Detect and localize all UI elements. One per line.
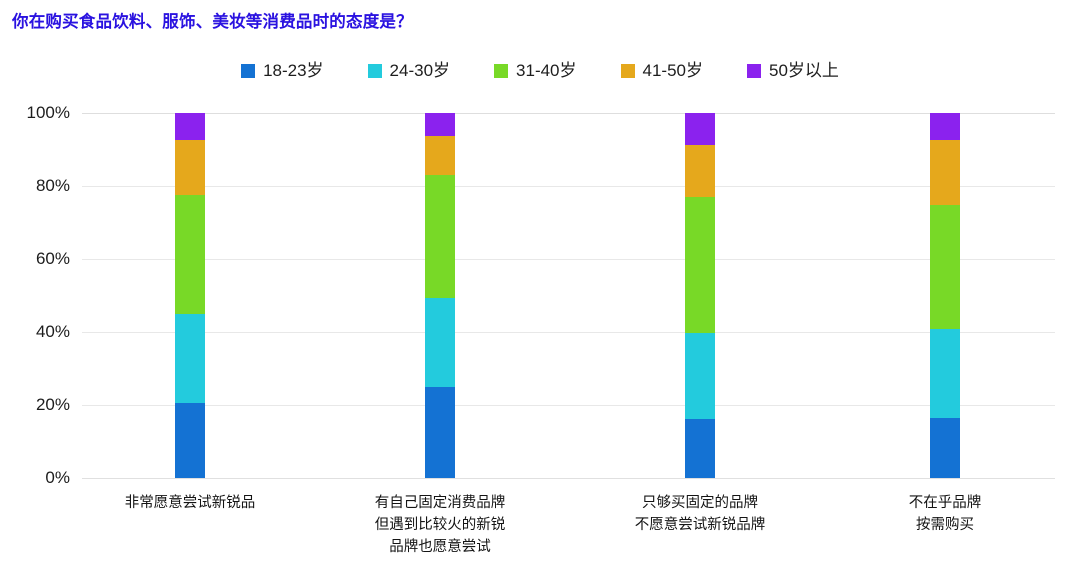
bar-segment[interactable] xyxy=(930,205,960,329)
bar-column[interactable] xyxy=(685,113,715,478)
chart-plot: 0%20%40%60%80%100% 非常愿意尝试新锐品有自己固定消费品牌 但遇… xyxy=(0,0,1080,578)
plot-area xyxy=(82,113,1055,478)
gridline xyxy=(82,186,1055,187)
x-axis-category-label: 只够买固定的品牌 不愿意尝试新锐品牌 xyxy=(635,492,766,536)
bar-segment[interactable] xyxy=(685,145,715,197)
x-axis-category-label: 非常愿意尝试新锐品 xyxy=(125,492,256,514)
bar-segment[interactable] xyxy=(175,314,205,403)
bar-segment[interactable] xyxy=(930,329,960,418)
bar-segment[interactable] xyxy=(175,140,205,195)
bar-segment[interactable] xyxy=(175,195,205,314)
y-axis-tick-label: 0% xyxy=(0,468,70,488)
bar-segment[interactable] xyxy=(425,298,455,387)
bar-column[interactable] xyxy=(175,113,205,478)
gridline xyxy=(82,259,1055,260)
bar-segment[interactable] xyxy=(685,333,715,419)
bar-segment[interactable] xyxy=(685,197,715,333)
y-axis-tick-label: 20% xyxy=(0,395,70,415)
y-axis-tick-label: 80% xyxy=(0,176,70,196)
gridline xyxy=(82,332,1055,333)
bar-segment[interactable] xyxy=(930,418,960,478)
bar-segment[interactable] xyxy=(425,175,455,298)
bar-column[interactable] xyxy=(930,113,960,478)
gridline xyxy=(82,113,1055,114)
bar-segment[interactable] xyxy=(685,419,715,478)
bar-segment[interactable] xyxy=(175,113,205,140)
x-axis-category-label: 不在乎品牌 按需购买 xyxy=(909,492,982,536)
x-axis-category-label: 有自己固定消费品牌 但遇到比较火的新锐 品牌也愿意尝试 xyxy=(375,492,506,558)
y-axis-tick-label: 40% xyxy=(0,322,70,342)
y-axis-tick-label: 60% xyxy=(0,249,70,269)
bar-segment[interactable] xyxy=(685,113,715,145)
y-axis-tick-label: 100% xyxy=(0,103,70,123)
bar-column[interactable] xyxy=(425,113,455,478)
bar-segment[interactable] xyxy=(930,140,960,205)
bar-segment[interactable] xyxy=(425,113,455,136)
bar-segment[interactable] xyxy=(930,113,960,140)
gridline xyxy=(82,478,1055,479)
bar-segment[interactable] xyxy=(425,387,455,478)
bar-segment[interactable] xyxy=(425,136,455,175)
bar-segment[interactable] xyxy=(175,403,205,478)
gridline xyxy=(82,405,1055,406)
